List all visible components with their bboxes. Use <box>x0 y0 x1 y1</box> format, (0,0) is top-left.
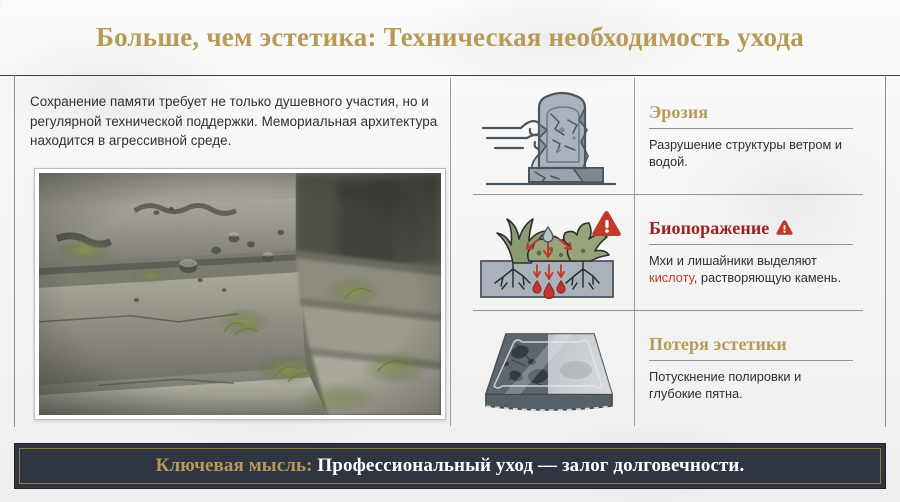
issue-text-erosion: Эрозия Разрушение структуры ветром и вод… <box>634 78 886 194</box>
issue-description-text: Потускнение полировки и глубокие пятна. <box>649 369 801 401</box>
issue-description-text: Разрушение структуры ветром и водой. <box>649 137 842 169</box>
issue-title-text: Биопоражение <box>649 218 769 239</box>
key-message-label: Ключевая мысль: <box>156 455 313 476</box>
slide: Больше, чем эстетика: Техническая необхо… <box>0 0 900 502</box>
issue-description-text-tail: , растворяющую камень. <box>694 270 841 285</box>
lead-paragraph: Сохранение памяти требует не только душе… <box>30 92 445 151</box>
photo-illustration <box>39 173 441 415</box>
issue-description-text: Мхи и лишайники выделяют <box>649 253 817 268</box>
slide-header: Больше, чем эстетика: Техническая необхо… <box>0 0 900 76</box>
title-rule <box>649 360 853 361</box>
issue-title: Биопоражение <box>649 218 886 244</box>
key-message-body: Профессиональный уход — залог долговечно… <box>313 455 745 476</box>
issue-title-text: Потеря эстетики <box>649 334 787 355</box>
issue-title-text: Эрозия <box>649 102 708 123</box>
left-column: Сохранение памяти требует не только душе… <box>30 92 445 151</box>
page-title: Больше, чем эстетика: Техническая необхо… <box>96 22 804 53</box>
issue-description: Потускнение полировки и глубокие пятна. <box>649 368 849 403</box>
issue-description-highlight: кислоту <box>649 270 694 285</box>
issue-text-biodamage: Биопоражение Мхи и лишайники выделяют ки… <box>634 194 886 310</box>
key-message-inner: Ключевая мысль: Профессиональный уход — … <box>19 448 881 484</box>
issue-text-aesthetics: Потеря эстетики Потускнение полировки и … <box>634 310 886 426</box>
issue-description: Мхи и лишайники выделяют кислоту, раство… <box>649 252 849 287</box>
moss-lichen-roots-icon <box>462 199 634 305</box>
issue-title: Потеря эстетики <box>649 334 886 360</box>
issue-card-erosion[interactable]: Эрозия Разрушение структуры ветром и вод… <box>462 78 886 194</box>
issue-card-biodamage[interactable]: Биопоражение Мхи и лишайники выделяют ки… <box>462 194 886 310</box>
photo-frame <box>34 168 446 420</box>
eroded-gravestone-icon <box>462 84 634 188</box>
weathered-stone-photo <box>39 173 441 415</box>
column-divider <box>450 78 451 426</box>
warning-triangle-icon <box>592 211 621 236</box>
dull-stained-slab-icon <box>462 318 634 418</box>
title-rule <box>649 244 853 245</box>
issue-title: Эрозия <box>649 102 886 128</box>
issue-description: Разрушение структуры ветром и водой. <box>649 136 849 171</box>
warning-triangle-icon <box>776 220 793 236</box>
key-message-bar: Ключевая мысль: Профессиональный уход — … <box>14 443 886 489</box>
issue-card-aesthetics[interactable]: Потеря эстетики Потускнение полировки и … <box>462 310 886 426</box>
issues-list: Эрозия Разрушение структуры ветром и вод… <box>462 78 886 426</box>
key-message-text: Ключевая мысль: Профессиональный уход — … <box>156 455 745 477</box>
title-rule <box>649 128 853 129</box>
